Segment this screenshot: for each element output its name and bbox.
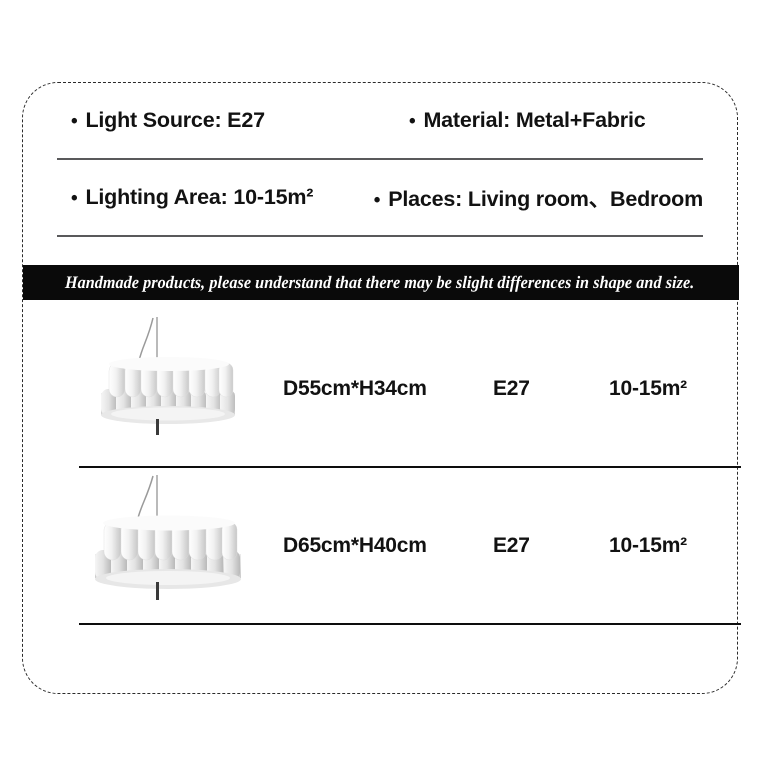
bullet-icon: • — [409, 112, 415, 131]
bullet-icon: • — [374, 191, 380, 210]
attribute-lighting-area: • Lighting Area: 10-15m² — [57, 185, 366, 210]
attribute-lighting-area-text: Lighting Area: 10-15m² — [85, 185, 313, 210]
attribute-places: • Places: Living room、Bedroom — [366, 182, 703, 213]
lamp-image-d65 — [79, 468, 257, 623]
model-lighting-area: 10-15m² — [587, 534, 741, 558]
handmade-notice-text: Handmade products, please understand tha… — [65, 272, 695, 293]
model-light-source: E27 — [477, 534, 587, 558]
table-row: D65cm*H40cm E27 10-15m² — [79, 468, 741, 625]
attribute-grid: • Light Source: E27 • Material: Metal+Fa… — [23, 83, 737, 237]
bullet-icon: • — [71, 112, 77, 131]
model-table: D55cm*H34cm E27 10-15m² — [79, 311, 741, 625]
attribute-places-text: Places: Living room、Bedroom — [388, 182, 703, 213]
attribute-material-text: Material: Metal+Fabric — [423, 108, 645, 133]
specification-card: • Light Source: E27 • Material: Metal+Fa… — [22, 82, 738, 694]
attribute-light-source: • Light Source: E27 — [57, 108, 401, 133]
model-size: D65cm*H40cm — [257, 534, 477, 558]
model-lighting-area: 10-15m² — [587, 377, 741, 401]
attribute-row: • Lighting Area: 10-15m² • Places: Livin… — [57, 160, 703, 237]
bullet-icon: • — [71, 189, 77, 208]
table-row: D55cm*H34cm E27 10-15m² — [79, 311, 741, 468]
lamp-image-d55 — [79, 311, 257, 466]
attribute-light-source-text: Light Source: E27 — [85, 108, 264, 133]
attribute-row: • Light Source: E27 • Material: Metal+Fa… — [57, 83, 703, 160]
handmade-notice-banner: Handmade products, please understand tha… — [23, 265, 739, 300]
model-size: D55cm*H34cm — [257, 377, 477, 401]
attribute-material: • Material: Metal+Fabric — [401, 108, 703, 133]
model-light-source: E27 — [477, 377, 587, 401]
